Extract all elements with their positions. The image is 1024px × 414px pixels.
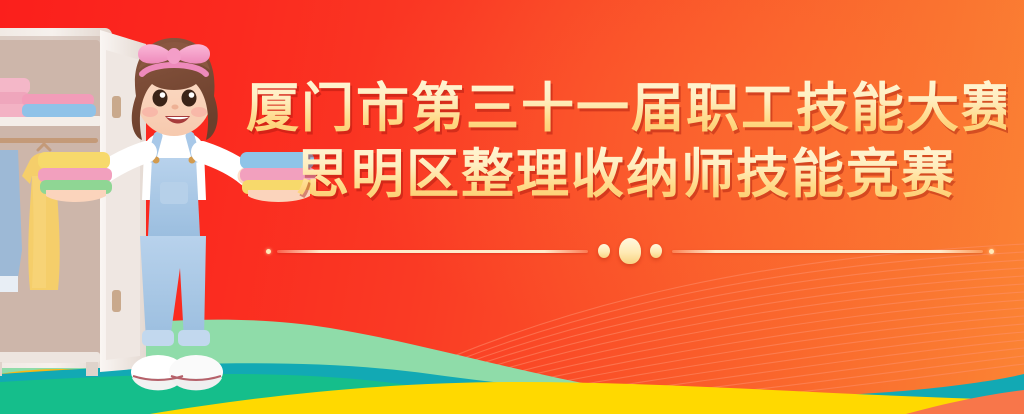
title-line-2: 思明区整理收纳师技能竞赛 <box>246 144 1006 206</box>
divider-rule-right <box>672 250 983 253</box>
illustration-girl-and-wardrobe <box>0 0 340 414</box>
competition-banner: 厦门市第三十一届职工技能大赛 思明区整理收纳师技能竞赛 <box>0 0 1024 414</box>
pant-cuff-left <box>142 330 174 346</box>
wardrobe <box>0 28 112 376</box>
title-block: 厦门市第三十一届职工技能大赛 思明区整理收纳师技能竞赛 <box>246 78 1006 206</box>
divider-gem-small-left <box>598 244 610 258</box>
title-line-1: 厦门市第三十一届职工技能大赛 <box>246 78 1006 140</box>
divider-gem-center <box>619 238 641 264</box>
sneakers <box>131 355 223 390</box>
divider-gem-small-right <box>650 244 662 258</box>
divider-dot-right <box>989 249 994 254</box>
divider-gem-group <box>598 238 662 264</box>
divider-dot-left <box>266 249 271 254</box>
ornamental-divider <box>266 238 994 264</box>
towel-stack-left <box>38 152 112 202</box>
overall-pocket <box>160 182 188 204</box>
hanging-denim <box>0 150 22 292</box>
divider-rule-left <box>277 250 588 253</box>
pant-cuff-right <box>178 330 210 346</box>
